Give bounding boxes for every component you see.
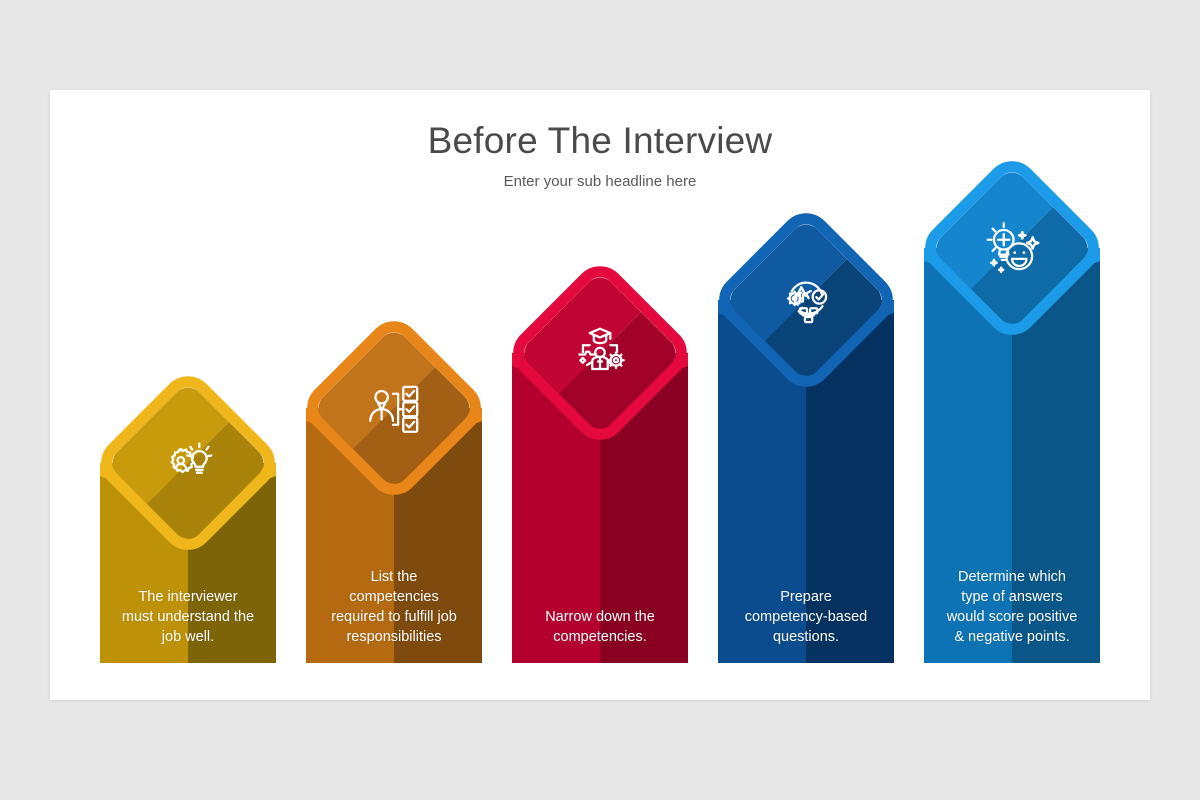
person-gear-lightbulb-icon [155, 430, 221, 496]
pillar-caption: Prepare competency-based questions. [712, 587, 900, 647]
pillar-diamond-cap[interactable] [296, 310, 492, 506]
pillar-diamond-cap[interactable] [502, 255, 698, 451]
pillar-caption: Narrow down the competencies. [506, 607, 694, 647]
lightbulb-smiley-icon [979, 215, 1045, 281]
person-checklist-icon [361, 375, 427, 441]
pillar-caption: The interviewer must understand the job … [94, 587, 282, 647]
pillar-caption: Determine which type of answers would sc… [918, 567, 1106, 647]
pillar-step-3[interactable]: Narrow down the competencies. [512, 353, 688, 663]
slide-card: Before The Interview Enter your sub head… [50, 90, 1150, 700]
pillar-caption: List the competencies required to fulfil… [300, 567, 488, 647]
head-process-gear-icon [773, 267, 839, 333]
pillar-diamond-cap[interactable] [90, 365, 286, 561]
person-graduation-gear-icon [567, 320, 633, 386]
pillar-diamond-cap[interactable] [708, 202, 904, 398]
pillar-diamond-cap[interactable] [914, 150, 1110, 346]
pillar-step-4[interactable]: Prepare competency-based questions. [718, 300, 894, 663]
pillar-chart: The interviewer must understand the job … [50, 90, 1150, 700]
pillar-step-5[interactable]: Determine which type of answers would sc… [924, 248, 1100, 663]
pillar-step-1[interactable]: The interviewer must understand the job … [100, 463, 276, 663]
pillar-step-2[interactable]: List the competencies required to fulfil… [306, 408, 482, 663]
